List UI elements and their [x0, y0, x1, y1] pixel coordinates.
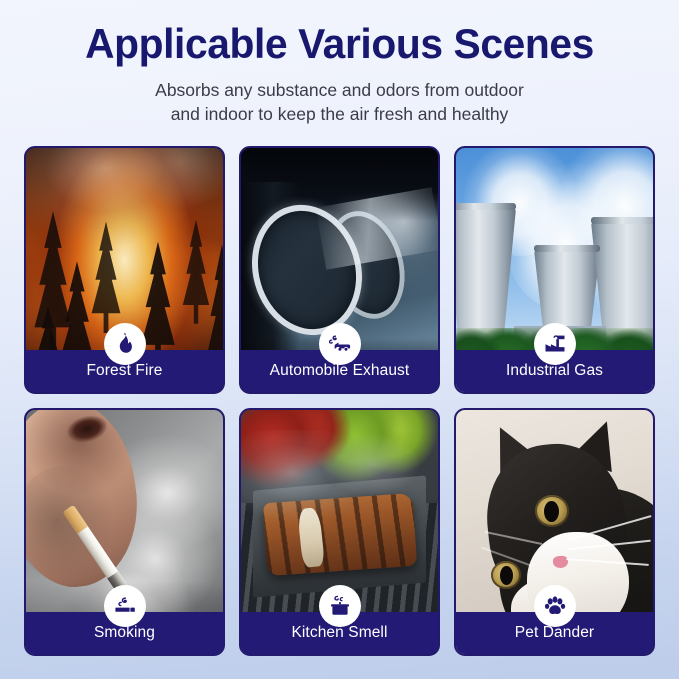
factory-icon: [534, 323, 576, 365]
subtitle-line-2: and indoor to keep the air fresh and hea…: [0, 103, 679, 127]
scene-card-automobile-exhaust[interactable]: Automobile Exhaust: [239, 146, 440, 394]
cooling-tower-rim: [534, 245, 600, 252]
paw-print-icon: [534, 585, 576, 627]
scene-card-forest-fire[interactable]: Forest Fire: [24, 146, 225, 394]
scene-card-smoking[interactable]: Smoking: [24, 408, 225, 656]
page-subtitle: Absorbs any substance and odors from out…: [0, 79, 679, 126]
cigarette-icon: [104, 585, 146, 627]
subtitle-line-1: Absorbs any substance and odors from out…: [0, 79, 679, 103]
scene-card-industrial-gas[interactable]: Industrial Gas: [454, 146, 655, 394]
steaming-pot-icon: [319, 585, 361, 627]
car-exhaust-icon: [319, 323, 361, 365]
scene-grid: Forest Fire Automobile Exhaust: [24, 146, 655, 656]
cooking-smoke: [241, 430, 438, 537]
scene-card-kitchen-smell[interactable]: Kitchen Smell: [239, 408, 440, 656]
cooling-tower-rim: [591, 217, 653, 224]
cooling-tower: [456, 208, 516, 340]
cat-eye: [535, 495, 569, 527]
scene-card-pet-dander[interactable]: Pet Dander: [454, 408, 655, 656]
page-title: Applicable Various Scenes: [10, 22, 669, 66]
header: Applicable Various Scenes Absorbs any su…: [0, 0, 679, 126]
cooling-tower-rim: [456, 203, 516, 210]
flame-icon: [104, 323, 146, 365]
cooling-tower: [591, 222, 653, 340]
